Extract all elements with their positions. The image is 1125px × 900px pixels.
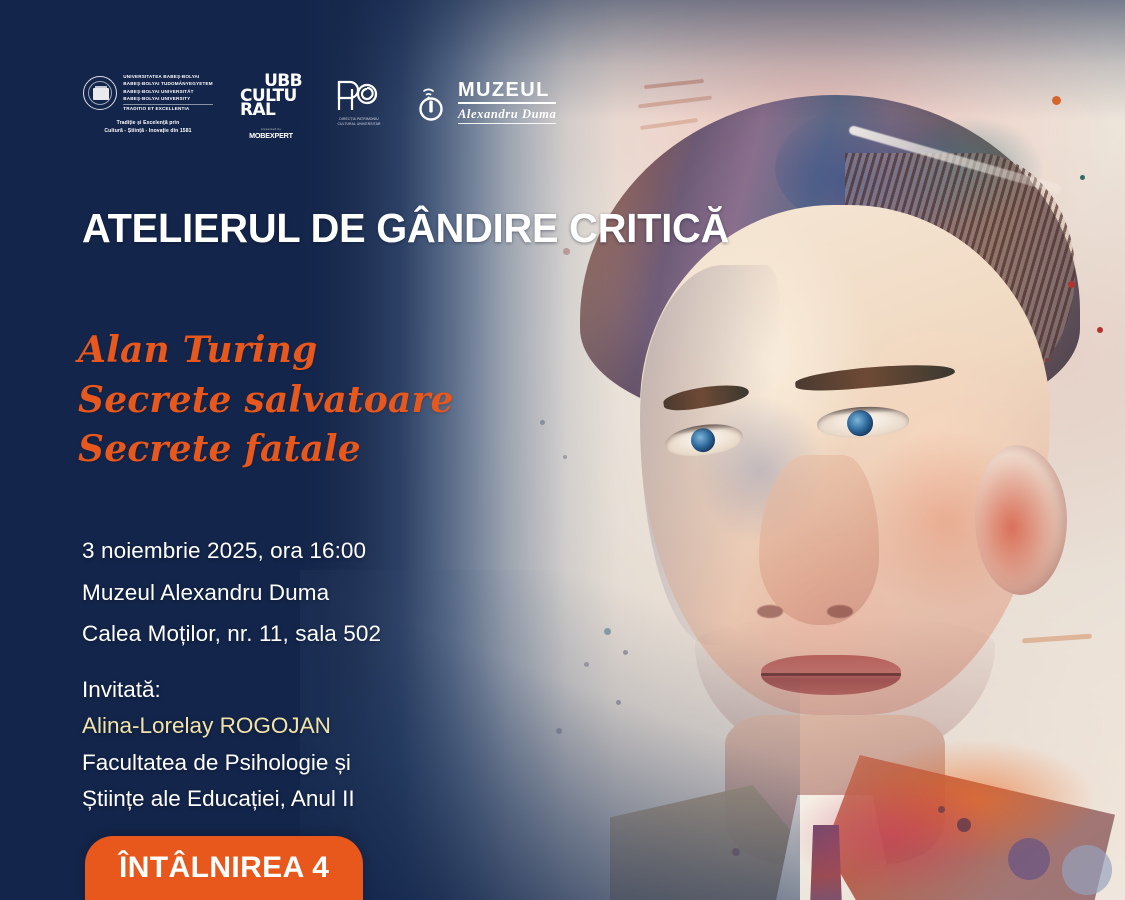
dpcu-caption-line2: CULTURAL UNIVERSITAR (337, 122, 380, 127)
museum-name: MUZEUL (458, 80, 556, 104)
sponsor-mobexpert: MOBEXPERT (249, 131, 293, 140)
logo-ubb-cultural[interactable]: UBB CULTU RAL presented by MOBEXPERT (240, 74, 302, 140)
museum-power-signal-icon (416, 82, 450, 122)
event-subtitle: Alan Turing Secrete salvatoare Secrete f… (78, 326, 454, 475)
paint-splatter (1008, 838, 1050, 880)
paint-splatter (1062, 845, 1112, 895)
ubb-tagline-line2: Cultură - Știință - Inovație din 1581 (104, 127, 191, 135)
ubb-name-ro: UNIVERSITATEA BABEŞ-BOLYAI (123, 74, 212, 80)
guest-affiliation-line2: Științe ale Educației, Anul II (82, 781, 355, 817)
paint-splatter (1080, 175, 1085, 180)
paint-splatter (1097, 327, 1103, 333)
paint-splatter (1068, 281, 1075, 288)
ubb-seal-icon (83, 76, 117, 110)
guest-name: Alina-Lorelay ROGOJAN (82, 708, 355, 744)
ubb-name-en: BABEŞ-BOLYAI UNIVERSITY (123, 96, 212, 102)
open-book-icon (93, 88, 109, 100)
guest-block: Invitată: Alina-Lorelay ROGOJAN Facultat… (82, 672, 355, 818)
page-title: ATELIERUL DE GÂNDIRE CRITICĂ (82, 205, 729, 252)
poster: UNIVERSITATEA BABEŞ-BOLYAI BABEŞ-BOLYAI … (0, 0, 1125, 900)
museum-subtitle: Alexandru Duma (458, 107, 556, 124)
logo-muzeul-alexandru-duma[interactable]: MUZEUL Alexandru Duma (416, 74, 556, 124)
ear-right (975, 445, 1067, 595)
subtitle-line1: Alan Turing (78, 326, 454, 376)
dpcu-caption: DIRECȚIA PATRIMONIU CULTURAL UNIVERSITAR (337, 117, 380, 127)
logo-dpcu[interactable]: DIRECȚIA PATRIMONIU CULTURAL UNIVERSITAR (328, 74, 390, 127)
event-venue: Muzeul Alexandru Duma (82, 572, 381, 614)
paint-splatter (938, 806, 945, 813)
event-address: Calea Moților, nr. 11, sala 502 (82, 613, 381, 655)
logo-row: UNIVERSITATEA BABEŞ-BOLYAI BABEŞ-BOLYAI … (82, 74, 556, 140)
guest-line: Invitată: Alina-Lorelay ROGOJAN (82, 672, 355, 745)
meeting-number-badge: ÎNTÂLNIREA 4 (85, 836, 363, 900)
ubb-tagline: Tradiție și Excelență prin Cultură - Ști… (104, 119, 191, 135)
logo-ubb[interactable]: UNIVERSITATEA BABEŞ-BOLYAI BABEŞ-BOLYAI … (82, 74, 214, 135)
shoulder-pink-wash (785, 775, 1005, 895)
guest-label: Invitată: (82, 672, 355, 708)
ubb-name-hu: BABEŞ-BOLYAI TUDOMÁNYEGYETEM (123, 81, 212, 87)
ubb-motto: TRADITIO ET EXCELLENTIA (123, 104, 212, 112)
dpcu-monogram-icon (334, 77, 384, 115)
subtitle-line2: Secrete salvatoare (78, 376, 454, 426)
ubb-name-de: BABEŞ-BOLYAI UNIVERSITÄT (123, 89, 212, 95)
event-datetime: 3 noiembrie 2025, ora 16:00 (82, 530, 381, 572)
paint-splatter (957, 818, 971, 832)
subtitle-line3: Secrete fatale (78, 425, 454, 475)
event-details: 3 noiembrie 2025, ora 16:00 Muzeul Alexa… (82, 530, 381, 655)
paint-splatter (1045, 358, 1049, 362)
ubb-tagline-line1: Tradiție și Excelență prin (104, 119, 191, 127)
guest-affiliation-line1: Facultatea de Psihologie și (82, 745, 355, 781)
